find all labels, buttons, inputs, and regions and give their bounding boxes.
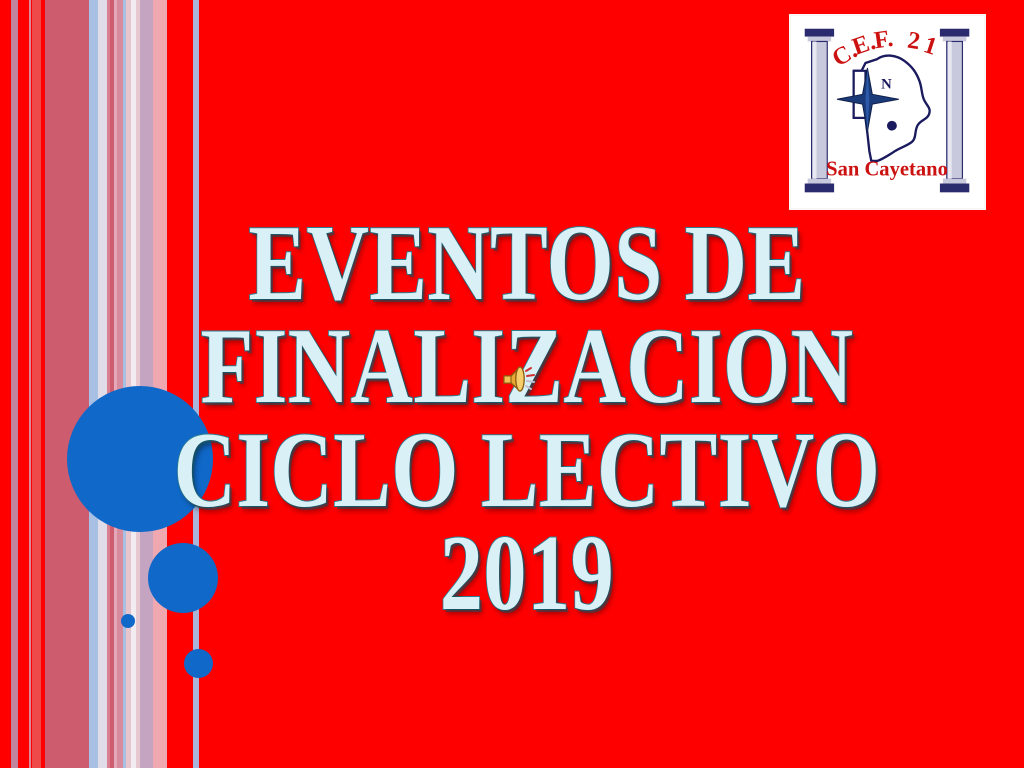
speaker-loud-icon xyxy=(498,358,542,402)
title-line-1: EVENTOS DE xyxy=(129,214,924,313)
compass-north-label: N xyxy=(881,76,892,92)
small-blue-circle xyxy=(184,649,213,678)
title-line-4: 2019 xyxy=(129,524,924,623)
city-marker-dot xyxy=(887,121,897,131)
svg-text:F.: F. xyxy=(872,25,894,54)
presentation-slide: EVENTOS DE FINALIZACION CICLO LECTIVO 20… xyxy=(0,0,1024,768)
cef-21-logo: N C. E. F. 2 1 San Cayetano xyxy=(789,14,986,210)
logo-bottom-text: San Cayetano xyxy=(826,159,948,181)
slide-title-block: EVENTOS DE FINALIZACION CICLO LECTIVO 20… xyxy=(0,214,1024,623)
title-line-3: CICLO LECTIVO xyxy=(129,421,924,520)
